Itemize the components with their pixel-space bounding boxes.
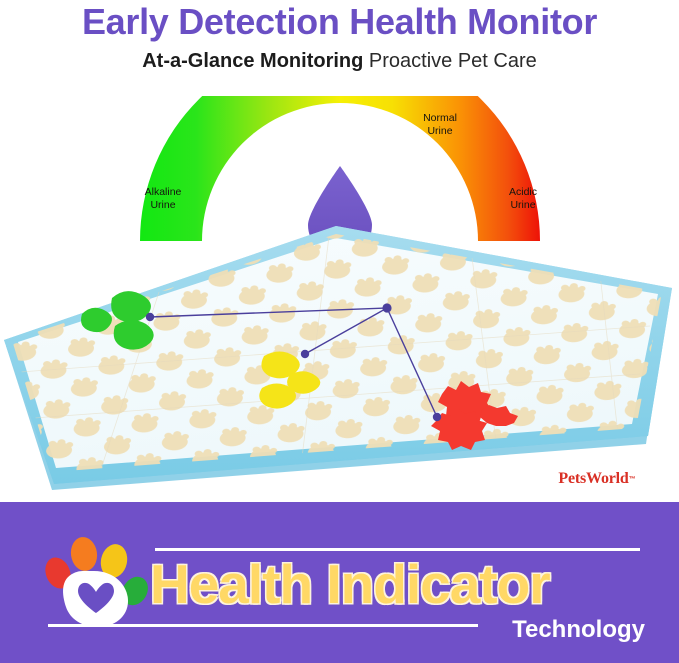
gauge-label-acidic-line2: Urine <box>480 199 566 212</box>
page-subtitle: At-a-Glance Monitoring Proactive Pet Car… <box>0 48 679 74</box>
header: Early Detection Health Monitor At-a-Glan… <box>0 0 679 92</box>
connector-node-normal <box>301 350 309 358</box>
banner-subline: Technology <box>0 616 645 644</box>
connector-node-alkaline <box>146 313 154 321</box>
health-indicator-banner: Health Indicator Technology <box>0 502 679 663</box>
paw-toe-orange-icon <box>69 535 99 572</box>
petsworld-logo: PetsWorld™ <box>531 466 663 492</box>
pad-svg <box>0 222 679 500</box>
gauge-label-alkaline: Alkaline Urine <box>120 186 206 211</box>
gauge-label-acidic: Acidic Urine <box>480 186 566 211</box>
gauge-label-normal-line2: Urine <box>390 125 490 138</box>
subtitle-bold: At-a-Glance Monitoring <box>142 50 363 72</box>
product-infographic: Early Detection Health Monitor At-a-Glan… <box>0 0 679 663</box>
gauge-label-alkaline-line1: Alkaline <box>120 186 206 199</box>
banner-headline: Health Indicator <box>150 549 650 619</box>
pee-pad-illustration <box>0 222 679 500</box>
gauge-label-normal-line1: Normal <box>390 112 490 125</box>
gauge-label-normal: Normal Urine <box>390 112 490 137</box>
connector-hub-node <box>382 303 391 312</box>
gauge-label-acidic-line1: Acidic <box>480 186 566 199</box>
petsworld-wordmark: PetsWorld <box>558 470 628 488</box>
trademark-symbol: ™ <box>629 476 636 483</box>
subtitle-normal: Proactive Pet Care <box>363 50 536 72</box>
gauge-label-alkaline-line2: Urine <box>120 199 206 212</box>
connector-node-acidic <box>433 413 441 421</box>
page-title: Early Detection Health Monitor <box>0 2 679 42</box>
